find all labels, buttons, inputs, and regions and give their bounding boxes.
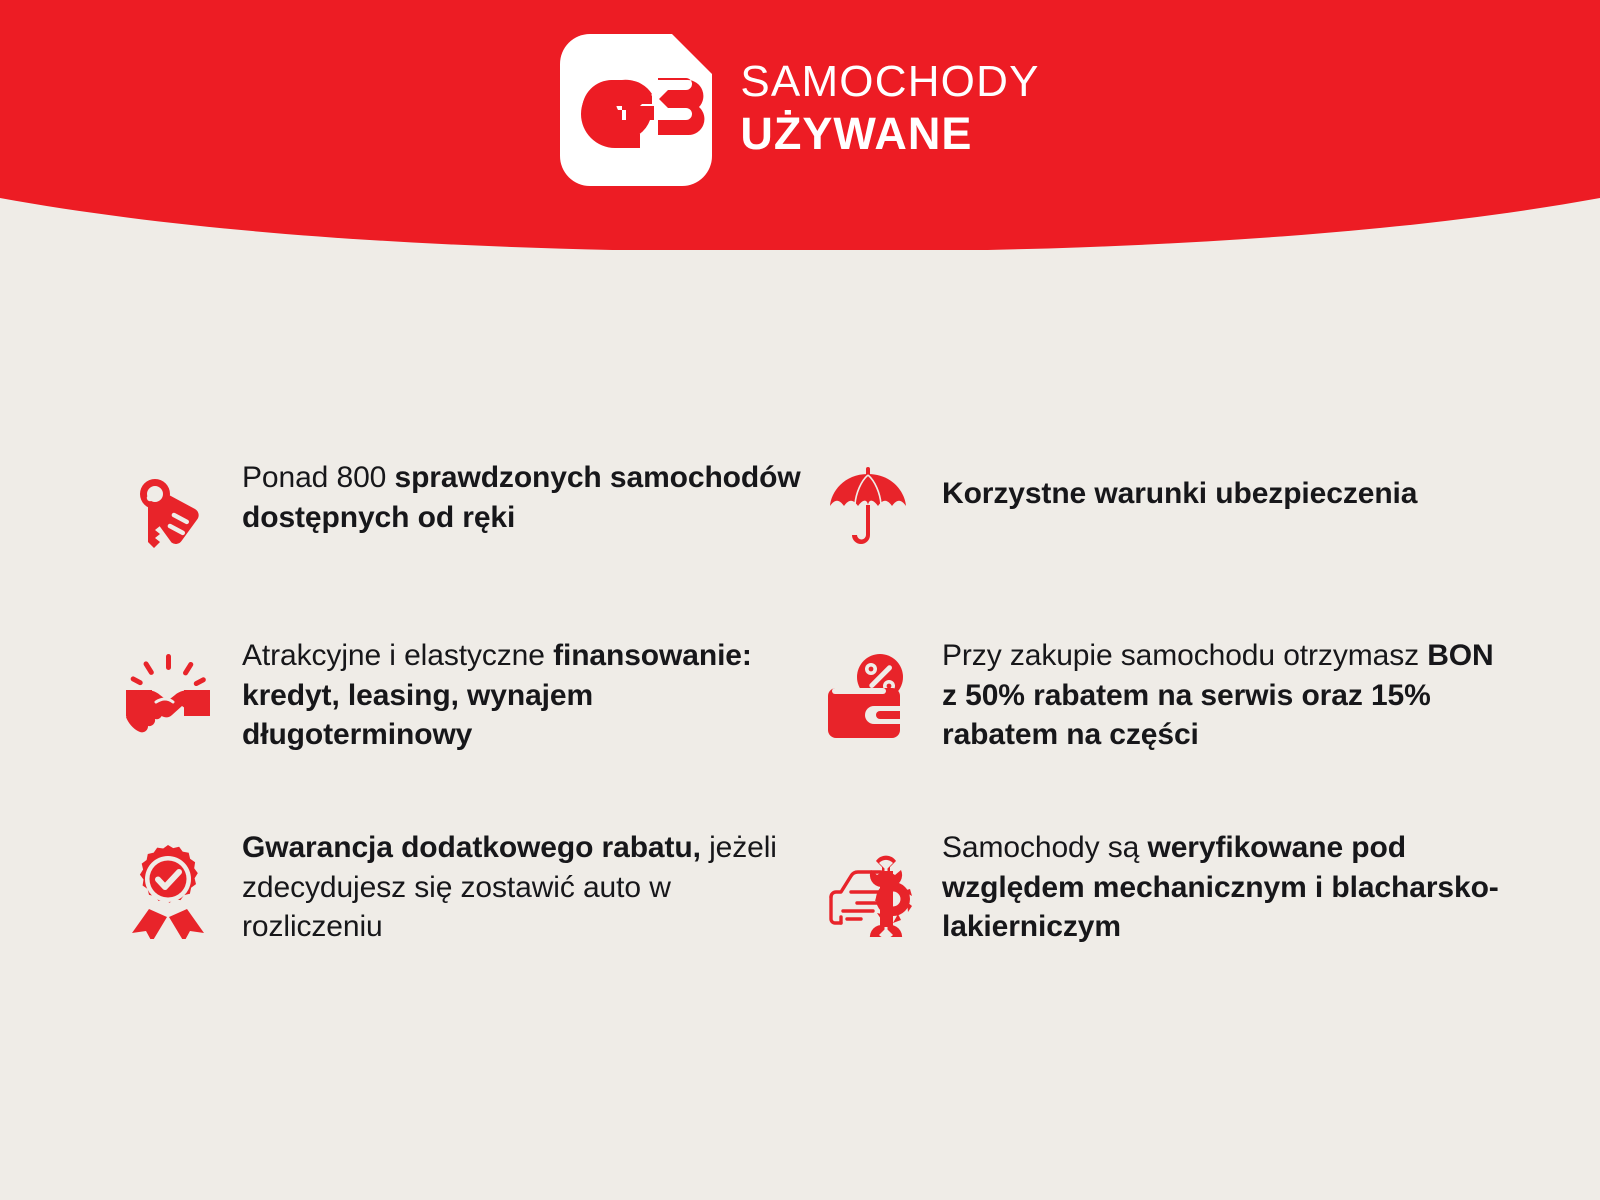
benefits-grid: Ponad 800 sprawdzonych samochodów dostęp…: [120, 440, 1500, 1010]
benefit-item-financing: Atrakcyjne i elastyczne finansowanie: kr…: [120, 630, 820, 820]
car-wrench-gear-icon: [820, 842, 916, 938]
gb-logo-icon[interactable]: [560, 34, 712, 186]
brand-line-uzywane: UŻYWANE: [740, 111, 1039, 156]
car-key-tag-icon: [120, 466, 216, 562]
header-banner: SAMOCHODY UŻYWANE: [0, 0, 1600, 250]
benefit-item-verification: Samochody są weryfikowane pod względem m…: [820, 820, 1500, 1010]
umbrella-icon: [820, 456, 916, 552]
benefit-text-trade-in-discount: Gwarancja dodatkowego rabatu, jeżeli zde…: [242, 828, 802, 947]
benefit-text-insurance: Korzystne warunki ubezpieczenia: [942, 474, 1417, 514]
brand-wordmark: SAMOCHODY UŻYWANE: [740, 60, 1039, 160]
benefit-text-financing: Atrakcyjne i elastyczne finansowanie: kr…: [242, 636, 802, 755]
benefit-text-voucher: Przy zakupie samochodu otrzymasz BON z 5…: [942, 636, 1500, 755]
award-badge-check-icon: [120, 842, 216, 938]
wallet-percent-icon: [820, 648, 916, 744]
benefit-item-stock: Ponad 800 sprawdzonych samochodów dostęp…: [120, 440, 820, 630]
brand-lockup: SAMOCHODY UŻYWANE: [0, 30, 1600, 190]
brand-line-samochody: SAMOCHODY: [740, 60, 1039, 104]
benefit-item-voucher: Przy zakupie samochodu otrzymasz BON z 5…: [820, 630, 1500, 820]
benefit-item-trade-in-discount: Gwarancja dodatkowego rabatu, jeżeli zde…: [120, 820, 820, 1010]
benefit-text-verification: Samochody są weryfikowane pod względem m…: [942, 828, 1500, 947]
benefit-text-stock: Ponad 800 sprawdzonych samochodów dostęp…: [242, 458, 802, 537]
benefit-item-insurance: Korzystne warunki ubezpieczenia: [820, 440, 1500, 630]
handshake-icon: [120, 648, 216, 744]
